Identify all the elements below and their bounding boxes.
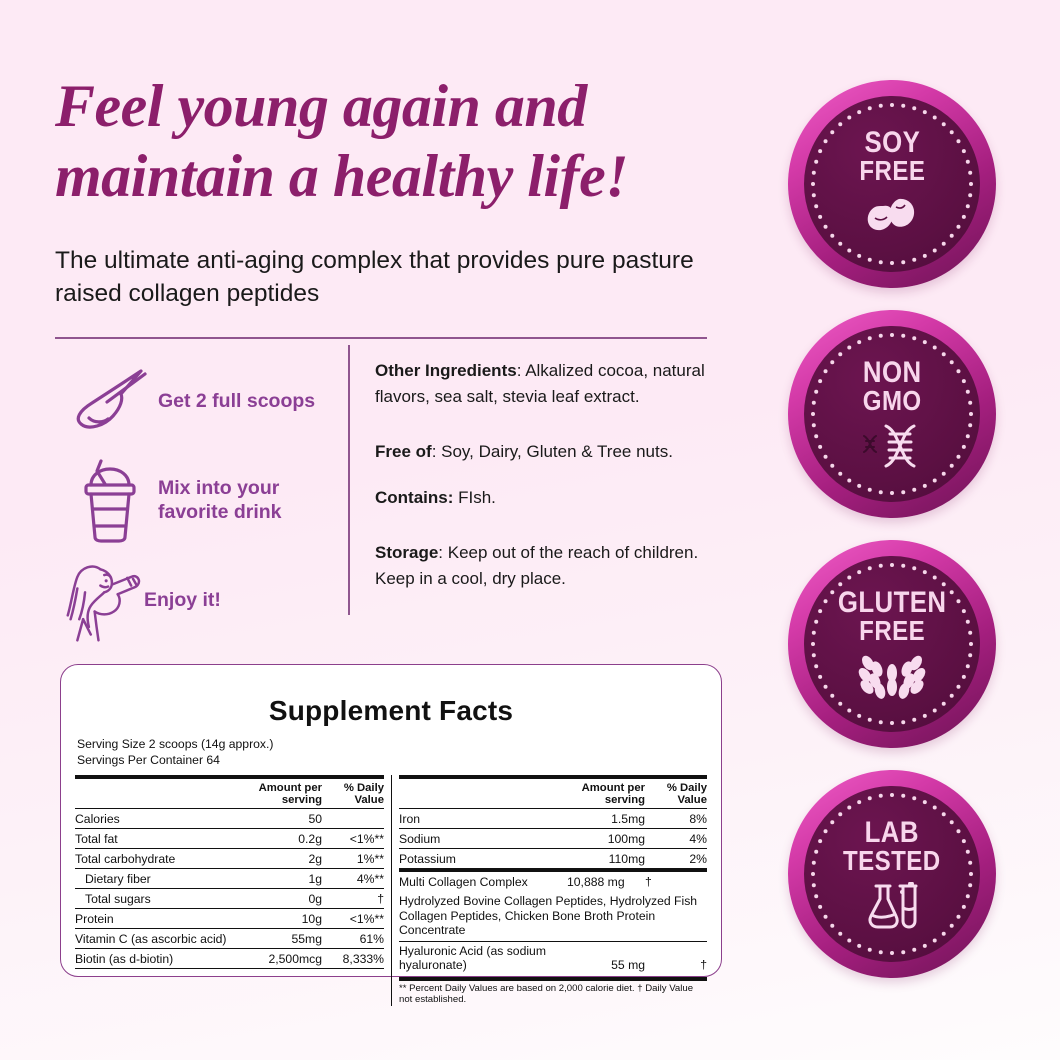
badge-gluten-free: GLUTEN FREE <box>788 540 996 748</box>
other-ingredients: Other Ingredients: Alkalized cocoa, natu… <box>375 358 723 409</box>
supplement-facts-card: Supplement Facts Serving Size 2 scoops (… <box>60 664 722 977</box>
nutrient-dv: 61% <box>322 929 384 949</box>
headline-line-1: Feel young again and <box>55 73 587 139</box>
subheadline: The ultimate anti-aging complex that pro… <box>55 244 715 310</box>
badge-disc: NON GMO <box>804 326 980 502</box>
blend-ingredients: Hydrolyzed Bovine Collagen Peptides, Hyd… <box>399 891 707 941</box>
blend-amount: 10,888 mg <box>567 870 645 891</box>
table-header-row: Amount per serving % Daily Value <box>75 777 384 809</box>
nutrient-name: Biotin (as d-biotin) <box>75 949 244 969</box>
free-of-label: Free of <box>375 442 432 461</box>
badge-disc: LAB TESTED <box>804 786 980 962</box>
badge-label: LAB TESTED <box>843 818 941 874</box>
table-row: Dietary fiber 1g 4%** <box>75 869 384 889</box>
smoothie-cup-icon <box>62 457 158 543</box>
nutrient-name: Total carbohydrate <box>75 849 244 869</box>
nutrient-amount: 1g <box>244 869 322 889</box>
badge-line-2: TESTED <box>843 847 941 874</box>
nutrient-name: Sodium <box>399 829 567 849</box>
nutrient-name: Calories <box>75 809 244 829</box>
free-of-text: : Soy, Dairy, Gluten & Tree nuts. <box>432 442 673 461</box>
contains-text: FIsh. <box>453 488 496 507</box>
other-ingredients-label: Other Ingredients <box>375 361 517 380</box>
headline-line-2: maintain a healthy life! <box>55 142 745 212</box>
badge-line-1: NON <box>863 356 922 389</box>
vertical-divider <box>348 345 350 615</box>
table-header-row: Amount per serving % Daily Value <box>399 777 707 809</box>
nutrient-dv: 8,333% <box>322 949 384 969</box>
nutrient-amount: 100mg <box>567 829 645 849</box>
footnote: ** Percent Daily Values are based on 2,0… <box>399 977 707 1006</box>
spacer-cell <box>399 777 567 809</box>
nutrient-dv: <1%** <box>322 909 384 929</box>
nutrient-amount: 2g <box>244 849 322 869</box>
nutrient-dv: 8% <box>645 809 707 829</box>
blend-row: Multi Collagen Complex 10,888 mg † <box>399 870 707 891</box>
nutrient-name: Total sugars <box>75 889 244 909</box>
table-bottom-rule <box>75 969 384 970</box>
badge-line-1: SOY <box>864 126 920 159</box>
table-row: Total fat 0.2g <1%** <box>75 829 384 849</box>
step-label: Get 2 full scoops <box>158 389 315 413</box>
table-row: Sodium 100mg 4% <box>399 829 707 849</box>
nutrient-name: Protein <box>75 909 244 929</box>
dv-header: % Daily Value <box>645 777 707 809</box>
nutrient-name: Total fat <box>75 829 244 849</box>
badge-line-2: GMO <box>863 387 922 414</box>
nutrient-dv: 1%** <box>322 849 384 869</box>
serving-info: Serving Size 2 scoops (14g approx.) Serv… <box>77 737 721 768</box>
amount-header: Amount per serving <box>567 777 645 809</box>
badge-disc: SOY FREE <box>804 96 980 272</box>
nutrient-amount: 55 mg <box>567 941 645 975</box>
nutrient-amount: 50 <box>244 809 322 829</box>
step-label: Enjoy it! <box>144 588 221 612</box>
nutrient-amount: 55mg <box>244 929 322 949</box>
nutrient-amount: 0g <box>244 889 322 909</box>
blend-dv: † <box>645 870 707 891</box>
badge-line-1: GLUTEN <box>838 586 947 619</box>
table-row: Total sugars 0g † <box>75 889 384 909</box>
storage-label: Storage <box>375 543 438 562</box>
nutrient-dv <box>322 809 384 829</box>
dv-header: % Daily Value <box>322 777 384 809</box>
nutrient-amount: 2,500mcg <box>244 949 322 969</box>
badge-non-gmo: NON GMO <box>788 310 996 518</box>
blend-sub-row: Hydrolyzed Bovine Collagen Peptides, Hyd… <box>399 891 707 941</box>
amount-header: Amount per serving <box>244 777 322 809</box>
table-row: Calories 50 <box>75 809 384 829</box>
badge-line-2: FREE <box>859 157 925 184</box>
step-get-scoops: Get 2 full scoops <box>62 360 342 442</box>
step-mix-drink: Mix into your favorite drink <box>62 450 342 550</box>
table-row: Biotin (as d-biotin) 2,500mcg 8,333% <box>75 949 384 969</box>
usage-steps: Get 2 full scoops Mix into your favorite… <box>62 350 342 646</box>
nutrient-name: Vitamin C (as ascorbic acid) <box>75 929 244 949</box>
spacer-cell <box>75 777 244 809</box>
nutrient-name: Dietary fiber <box>75 869 244 889</box>
nutrient-name: Hyaluronic Acid (as sodium hyaluronate) <box>399 941 567 975</box>
table-row: Iron 1.5mg 8% <box>399 809 707 829</box>
nutrition-tables: Amount per serving % Daily Value Calorie… <box>75 775 707 1006</box>
nutrient-dv: † <box>645 941 707 975</box>
badge-label: NON GMO <box>863 358 922 414</box>
servings-per-container: Servings Per Container 64 <box>77 753 721 769</box>
certification-badges: SOY FREE NON GMO <box>766 0 1036 1060</box>
table-row: Total carbohydrate 2g 1%** <box>75 849 384 869</box>
nutrient-amount: 0.2g <box>244 829 322 849</box>
nutrition-table-right: Amount per serving % Daily Value Iron 1.… <box>391 775 707 1006</box>
nutrient-amount: 110mg <box>567 849 645 871</box>
step-enjoy: Enjoy it! <box>62 554 342 646</box>
badge-line-1: LAB <box>865 816 919 849</box>
nutrient-name: Potassium <box>399 849 567 871</box>
badge-label: GLUTEN FREE <box>838 588 947 644</box>
nutrient-dv: 4%** <box>322 869 384 889</box>
free-of: Free of: Soy, Dairy, Gluten & Tree nuts. <box>375 439 723 465</box>
blend-name: Multi Collagen Complex <box>399 870 567 891</box>
badge-line-2: FREE <box>838 617 947 644</box>
nutrient-name: Iron <box>399 809 567 829</box>
main-content: Feel young again and maintain a healthy … <box>0 0 760 1060</box>
badge-lab-tested: LAB TESTED <box>788 770 996 978</box>
horizontal-divider <box>55 337 707 339</box>
nutrient-dv: <1%** <box>322 829 384 849</box>
table-row: Protein 10g <1%** <box>75 909 384 929</box>
badge-disc: GLUTEN FREE <box>804 556 980 732</box>
nutrient-dv: † <box>322 889 384 909</box>
storage: Storage: Keep out of the reach of childr… <box>375 540 723 591</box>
scoop-icon <box>62 369 158 433</box>
page-title: Feel young again and maintain a healthy … <box>55 72 745 211</box>
table-row: Vitamin C (as ascorbic acid) 55mg 61% <box>75 929 384 949</box>
badge-soy-free: SOY FREE <box>788 80 996 288</box>
product-info: Other Ingredients: Alkalized cocoa, natu… <box>375 358 723 591</box>
nutrient-amount: 10g <box>244 909 322 929</box>
nutrition-table-left: Amount per serving % Daily Value Calorie… <box>75 775 391 1006</box>
nutrient-dv: 4% <box>645 829 707 849</box>
contains-label: Contains: <box>375 488 453 507</box>
table-row: Potassium 110mg 2% <box>399 849 707 871</box>
serving-size: Serving Size 2 scoops (14g approx.) <box>77 737 721 753</box>
step-label: Mix into your favorite drink <box>158 476 342 525</box>
nutrient-dv: 2% <box>645 849 707 871</box>
table-row: Hyaluronic Acid (as sodium hyaluronate) … <box>399 941 707 975</box>
badge-label: SOY FREE <box>859 128 925 184</box>
contains: Contains: FIsh. <box>375 485 723 511</box>
nutrient-amount: 1.5mg <box>567 809 645 829</box>
supplement-facts-title: Supplement Facts <box>61 695 721 727</box>
